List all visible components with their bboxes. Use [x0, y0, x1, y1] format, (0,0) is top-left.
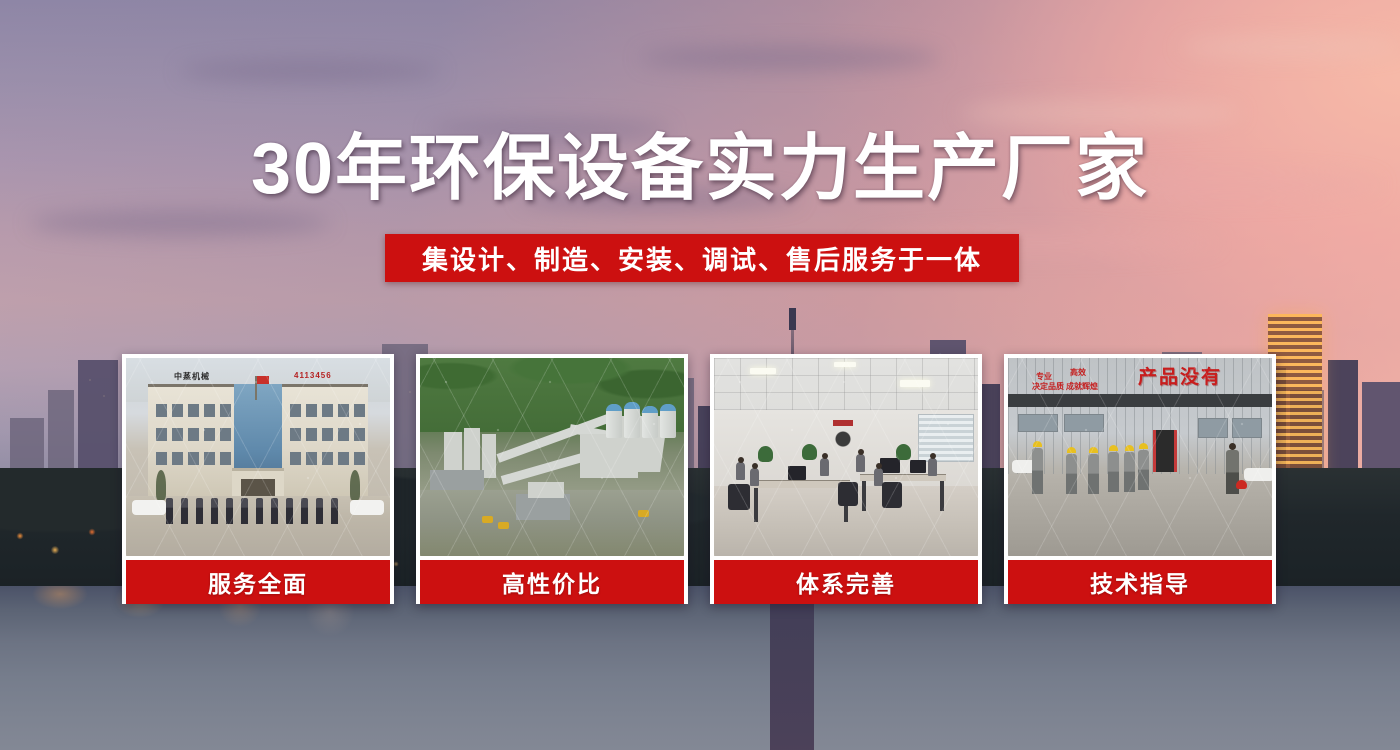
building-phone-text: 4113456	[294, 371, 332, 380]
skyscraper-tip	[789, 308, 796, 330]
feature-card-value[interactable]: 高性价比	[416, 354, 688, 604]
wall-decal-icon	[826, 420, 860, 448]
factory-wall-text: 产品没有	[1138, 362, 1222, 389]
card-label-service: 服务全面	[126, 560, 390, 604]
card-label-system: 体系完善	[714, 560, 978, 604]
feature-card-list: 中蒸机械 4113456	[122, 354, 1278, 604]
subtitle-text: 集设计、制造、安装、调试、售后服务于一体	[422, 240, 982, 277]
building-sign-text: 中蒸机械	[174, 371, 210, 382]
card-label-text: 体系完善	[796, 565, 896, 599]
card-label-value: 高性价比	[420, 560, 684, 604]
card-label-text: 服务全面	[208, 565, 308, 599]
feature-card-system[interactable]: 体系完善	[710, 354, 982, 604]
card-photo-workers-training: 产品没有 专业 决定品质 高效 成就辉煌	[1008, 358, 1272, 556]
factory-slogan-3: 决定品质	[1032, 382, 1064, 391]
feature-card-service[interactable]: 中蒸机械 4113456	[122, 354, 394, 604]
card-photo-office-building: 中蒸机械 4113456	[126, 358, 390, 556]
card-label-guidance: 技术指导	[1008, 560, 1272, 604]
feature-card-guidance[interactable]: 产品没有 专业 决定品质 高效 成就辉煌	[1004, 354, 1276, 604]
card-label-text: 高性价比	[502, 565, 602, 599]
factory-slogan-4: 成就辉煌	[1066, 382, 1098, 391]
card-photo-plant-aerial	[420, 358, 684, 556]
card-label-text: 技术指导	[1090, 565, 1190, 599]
card-photo-office-interior	[714, 358, 978, 556]
subtitle-banner: 集设计、制造、安装、调试、售后服务于一体	[385, 234, 1019, 282]
factory-slogan-1: 专业	[1036, 372, 1052, 381]
page-title: 30年环保设备实力生产厂家	[0, 133, 1400, 205]
promo-banner-stage: 30年环保设备实力生产厂家 集设计、制造、安装、调试、售后服务于一体 中蒸机械 …	[0, 0, 1400, 750]
factory-slogan-2: 高效	[1070, 368, 1086, 377]
